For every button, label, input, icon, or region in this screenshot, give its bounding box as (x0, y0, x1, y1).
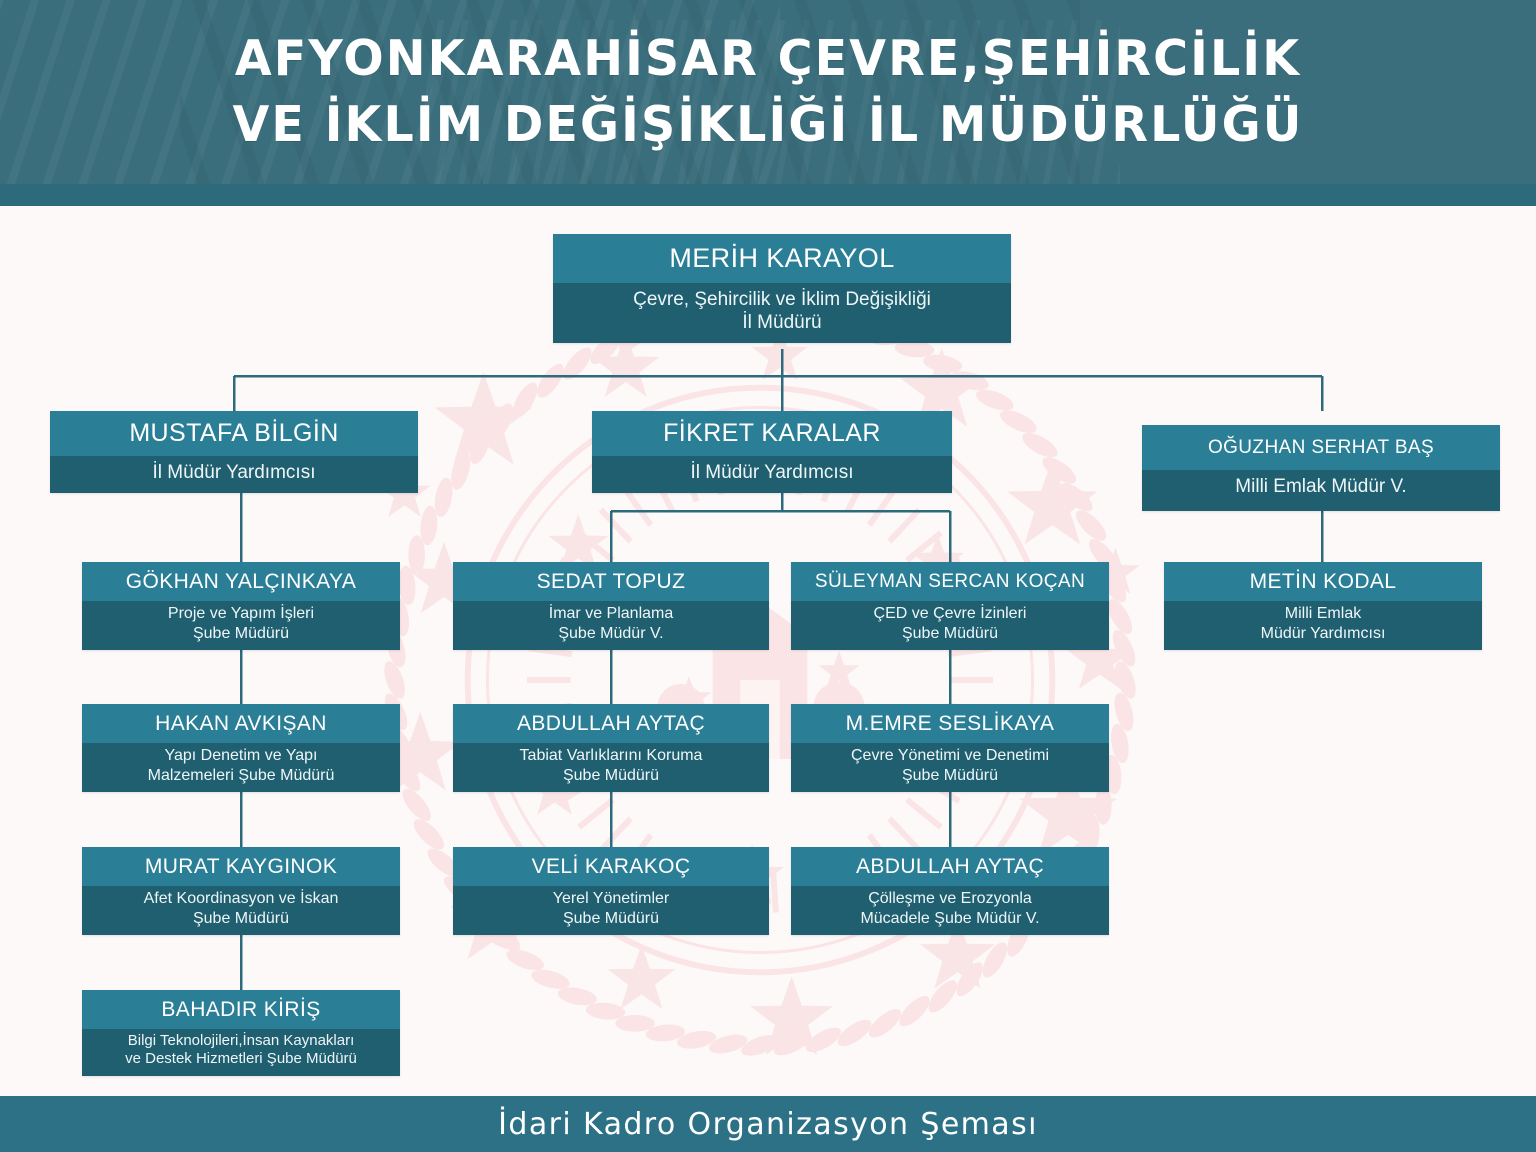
node-name: GÖKHAN YALÇINKAYA (82, 562, 400, 601)
node-title: İl Müdür Yardımcısı (592, 456, 952, 493)
node-title: ÇED ve Çevre İzinleriŞube Müdürü (791, 601, 1109, 650)
node-title: Tabiat Varlıklarını KorumaŞube Müdürü (453, 743, 769, 792)
node-bahadir-kiris[interactable]: BAHADIR KİRİŞ Bilgi Teknolojileri,İnsan … (82, 990, 400, 1076)
node-name: BAHADIR KİRİŞ (82, 990, 400, 1029)
node-name: SEDAT TOPUZ (453, 562, 769, 601)
node-gokhan-yalcinkaya[interactable]: GÖKHAN YALÇINKAYA Proje ve Yapım İşleriŞ… (82, 562, 400, 650)
node-abdullah-aytac-collesme[interactable]: ABDULLAH AYTAÇ Çölleşme ve ErozyonlaMüca… (791, 847, 1109, 935)
page-title-line-1: AFYONKARAHİSAR ÇEVRE,ŞEHİRCİLİK (235, 30, 1301, 87)
node-title: Bilgi Teknolojileri,İnsan Kaynaklarıve D… (82, 1029, 400, 1076)
header-underline (0, 184, 1536, 206)
footer-caption: İdari Kadro Organizasyon Şeması (498, 1107, 1038, 1142)
node-title: Afet Koordinasyon ve İskanŞube Müdürü (82, 886, 400, 935)
node-mustafa-bilgin[interactable]: MUSTAFA BİLGİN İl Müdür Yardımcısı (50, 411, 418, 493)
page-title-line-2: VE İKLİM DEĞİŞİKLİĞİ İL MÜDÜRLÜĞÜ (23, 92, 1513, 158)
node-title: Çölleşme ve ErozyonlaMücadele Şube Müdür… (791, 886, 1109, 935)
node-veli-karakoc[interactable]: VELİ KARAKOÇ Yerel YönetimlerŞube Müdürü (453, 847, 769, 935)
node-title: Çevre Yönetimi ve DenetimiŞube Müdürü (791, 743, 1109, 792)
node-abdullah-aytac-tabiat[interactable]: ABDULLAH AYTAÇ Tabiat Varlıklarını Korum… (453, 704, 769, 792)
node-name: VELİ KARAKOÇ (453, 847, 769, 886)
node-name: MERİH KARAYOL (553, 234, 1011, 283)
node-fikret-karalar[interactable]: FİKRET KARALAR İl Müdür Yardımcısı (592, 411, 952, 493)
node-name: M.EMRE SESLİKAYA (791, 704, 1109, 743)
node-name: METİN KODAL (1164, 562, 1482, 601)
node-oguzhan-serhat-bas[interactable]: OĞUZHAN SERHAT BAŞ Milli Emlak Müdür V. (1142, 425, 1500, 511)
node-hakan-avkisan[interactable]: HAKAN AVKIŞAN Yapı Denetim ve YapıMalzem… (82, 704, 400, 792)
org-chart: MERİH KARAYOL Çevre, Şehircilik ve İklim… (0, 206, 1536, 1086)
node-metin-kodal[interactable]: METİN KODAL Milli EmlakMüdür Yardımcısı (1164, 562, 1482, 650)
node-name: SÜLEYMAN SERCAN KOÇAN (791, 562, 1109, 601)
node-sedat-topuz[interactable]: SEDAT TOPUZ İmar ve PlanlamaŞube Müdür V… (453, 562, 769, 650)
node-murat-kayginok[interactable]: MURAT KAYGINOK Afet Koordinasyon ve İska… (82, 847, 400, 935)
organization-chart-page: AFYONKARAHİSAR ÇEVRE,ŞEHİRCİLİK VE İKLİM… (0, 0, 1536, 1152)
node-name: MURAT KAYGINOK (82, 847, 400, 886)
page-header: AFYONKARAHİSAR ÇEVRE,ŞEHİRCİLİK VE İKLİM… (0, 0, 1536, 184)
node-name: ABDULLAH AYTAÇ (791, 847, 1109, 886)
node-title: İmar ve PlanlamaŞube Müdür V. (453, 601, 769, 650)
node-name: FİKRET KARALAR (592, 411, 952, 456)
node-title: Proje ve Yapım İşleriŞube Müdürü (82, 601, 400, 650)
node-title: İl Müdür Yardımcısı (50, 456, 418, 493)
node-suleyman-sercan-kocan[interactable]: SÜLEYMAN SERCAN KOÇAN ÇED ve Çevre İzinl… (791, 562, 1109, 650)
page-title: AFYONKARAHİSAR ÇEVRE,ŞEHİRCİLİK VE İKLİM… (23, 0, 1513, 158)
node-title: Milli Emlak Müdür V. (1142, 470, 1500, 511)
node-root[interactable]: MERİH KARAYOL Çevre, Şehircilik ve İklim… (553, 234, 1011, 343)
node-memre-seslikaya[interactable]: M.EMRE SESLİKAYA Çevre Yönetimi ve Denet… (791, 704, 1109, 792)
node-name: ABDULLAH AYTAÇ (453, 704, 769, 743)
node-title: Çevre, Şehircilik ve İklim Değişikliğiİl… (553, 283, 1011, 343)
node-title: Yerel YönetimlerŞube Müdürü (453, 886, 769, 935)
node-title: Milli EmlakMüdür Yardımcısı (1164, 601, 1482, 650)
node-name: MUSTAFA BİLGİN (50, 411, 418, 456)
footer-caption-bar: İdari Kadro Organizasyon Şeması (0, 1096, 1536, 1152)
node-name: HAKAN AVKIŞAN (82, 704, 400, 743)
node-title: Yapı Denetim ve YapıMalzemeleri Şube Müd… (82, 743, 400, 792)
node-name: OĞUZHAN SERHAT BAŞ (1142, 425, 1500, 470)
